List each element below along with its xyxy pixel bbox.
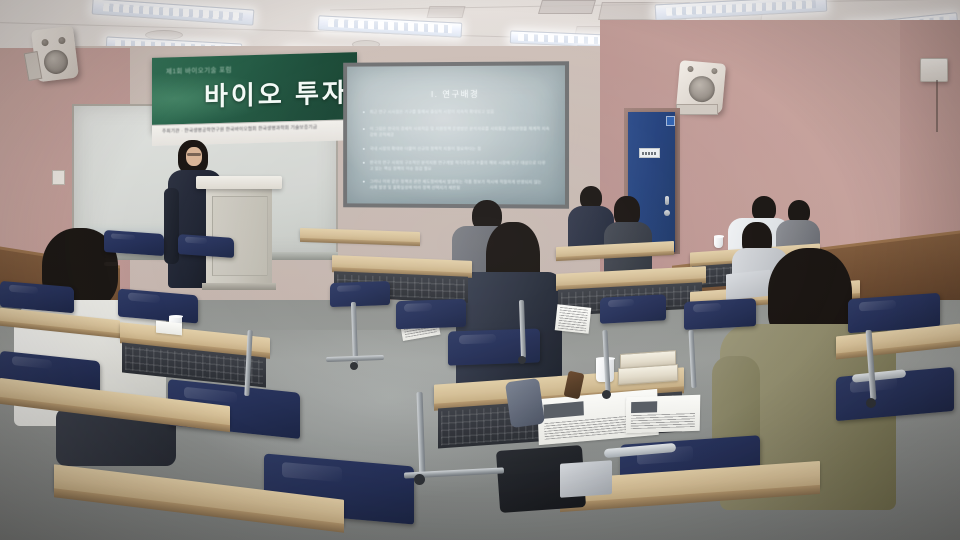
projection-screen: I. 연구배경 최근 연구 시사점은 기구를 통해서 중심적 시장이 지속적 확…: [347, 65, 565, 204]
sensor-cord: [936, 80, 938, 132]
chair[interactable]: [104, 230, 164, 256]
glasses-icon: [104, 262, 118, 266]
chair[interactable]: [178, 234, 234, 258]
slide-bullet: 이 그림은 한국의 경제적 사회적응 및 지원정책 운영방안 분석자료를 사회통…: [370, 126, 550, 137]
chair[interactable]: [396, 299, 466, 329]
scarf: [505, 378, 545, 428]
caster: [414, 474, 425, 485]
caster: [866, 398, 876, 408]
slide-title: I. 연구배경: [347, 88, 565, 101]
presenter-arm: [164, 188, 179, 264]
open-document: [626, 395, 701, 434]
glasses-icon: [187, 153, 201, 156]
laptop[interactable]: [726, 270, 770, 301]
door-lock-icon[interactable]: [664, 210, 670, 216]
chair[interactable]: [448, 328, 540, 365]
door-sign: [639, 148, 660, 158]
caster: [350, 362, 358, 370]
door-handle[interactable]: [665, 196, 669, 205]
caster: [518, 356, 526, 364]
lecture-hall-photo: 제1회 바이오기술 포럼 바이오 투자 주최기관 · 한국생명공학연구원 한국바…: [0, 0, 960, 540]
slide-bullet: 국내 시장의 확대와 더불어 신규의 정책적 지원이 필요하다는 점: [370, 146, 544, 152]
wall-outlet: [52, 170, 65, 185]
ceiling-vent: [538, 0, 596, 14]
ceiling-vent: [427, 6, 466, 18]
door-badge-icon: [666, 116, 675, 126]
projection-screen-frame: I. 연구배경 최근 연구 시사점은 기구를 통해서 중심적 시장이 지속적 확…: [343, 61, 569, 208]
paper-cup: [714, 236, 723, 248]
slide-bullet: 한국의 연구 사회의 구조적인 분석지원 연구개발 적극추진과 수출의 해외 시…: [370, 160, 548, 172]
handout: [555, 304, 592, 333]
podium-top: [196, 176, 282, 189]
chair[interactable]: [600, 294, 666, 323]
podium-base: [202, 283, 276, 290]
speaker-bracket: [676, 104, 718, 115]
chair[interactable]: [330, 281, 390, 307]
slide-bullet: 최근 연구 시사점은 기구를 통해서 중심적 시장이 지속적 확대되고 있음: [370, 109, 546, 115]
laptop[interactable]: [560, 460, 612, 498]
presenter-face: [186, 147, 202, 166]
chair[interactable]: [684, 298, 756, 330]
caster: [602, 390, 611, 399]
wall-sensor-icon: [920, 58, 948, 82]
podium-panel: [212, 196, 268, 276]
banner-subtitle: 제1회 바이오기술 포럼: [166, 64, 232, 76]
banner-title: 바이오 투자: [204, 72, 349, 113]
slide-bullet: 그러나 이와 같은 정책과 관련 제도정비에서 발생하는 각종 정보가 적시에 …: [370, 179, 546, 191]
